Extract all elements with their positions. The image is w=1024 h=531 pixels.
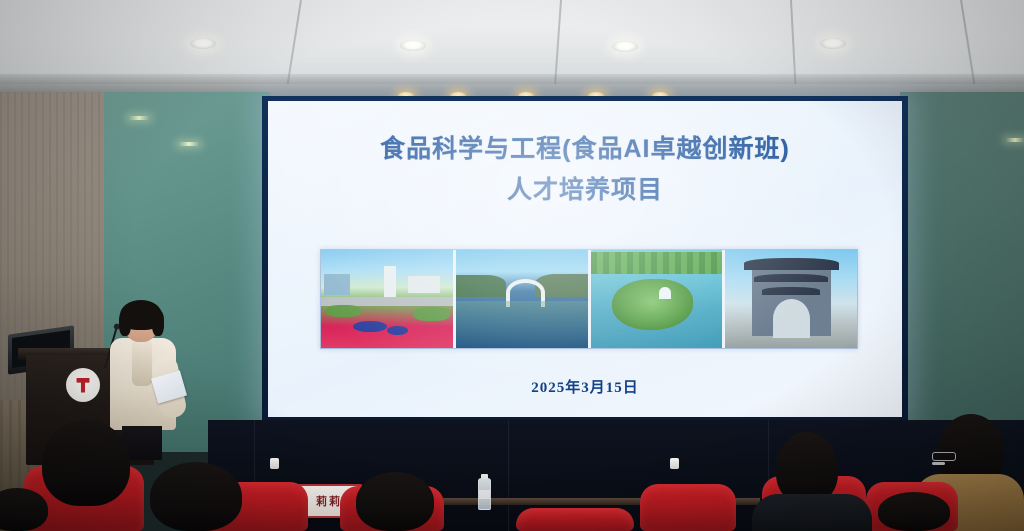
- ceiling-downlight: [400, 40, 426, 51]
- wall-light: [1005, 138, 1024, 142]
- slide-photo-campus-plaza-flowers: [321, 250, 453, 348]
- attendee-front-left: [42, 420, 130, 506]
- paper-cup: [270, 458, 279, 469]
- slide-date: 2025年3月15日: [268, 376, 902, 397]
- slide-content: 食品科学与工程(食品AI卓越创新班) 人才培养项目: [268, 101, 902, 417]
- slide-photo-lake-arch-bridge: [456, 250, 588, 348]
- ceiling-downlight: [820, 38, 846, 49]
- slide-photo-traditional-archway: [725, 250, 857, 348]
- attendee-front-center: [356, 472, 434, 531]
- face-mask-strap: [932, 462, 945, 465]
- attendee-far-right: [878, 492, 950, 531]
- slide-title-line-1: 食品科学与工程(食品AI卓越创新班): [380, 135, 790, 163]
- attendee-right-front-shoulders: [752, 494, 872, 531]
- paper-cup: [670, 458, 679, 469]
- projection-screen: 食品科学与工程(食品AI卓越创新班) 人才培养项目: [262, 96, 908, 424]
- ceiling-downlight: [190, 38, 216, 49]
- slide-title: 食品科学与工程(食品AI卓越创新班) 人才培养项目: [268, 129, 902, 210]
- wall-light: [128, 116, 150, 120]
- name-placard-text: 莉莉: [316, 493, 342, 509]
- wall-light: [178, 142, 200, 146]
- slide-title-line-2: 人才培养项目: [268, 170, 902, 211]
- audience-seat: [640, 484, 736, 531]
- green-wall-right: [900, 92, 1024, 452]
- ceiling-downlight: [612, 41, 638, 52]
- ceiling: [0, 0, 1024, 92]
- eyeglasses: [932, 452, 956, 461]
- audience-seat: [516, 508, 634, 531]
- slide-photo-strip: [320, 249, 858, 349]
- university-seal-emblem: [66, 368, 100, 402]
- water-bottle: [478, 478, 491, 510]
- attendee-front-center-left: [150, 462, 242, 531]
- conference-photo: 食品科学与工程(食品AI卓越创新班) 人才培养项目: [0, 0, 1024, 531]
- slide-photo-aerial-island-park: [591, 250, 723, 348]
